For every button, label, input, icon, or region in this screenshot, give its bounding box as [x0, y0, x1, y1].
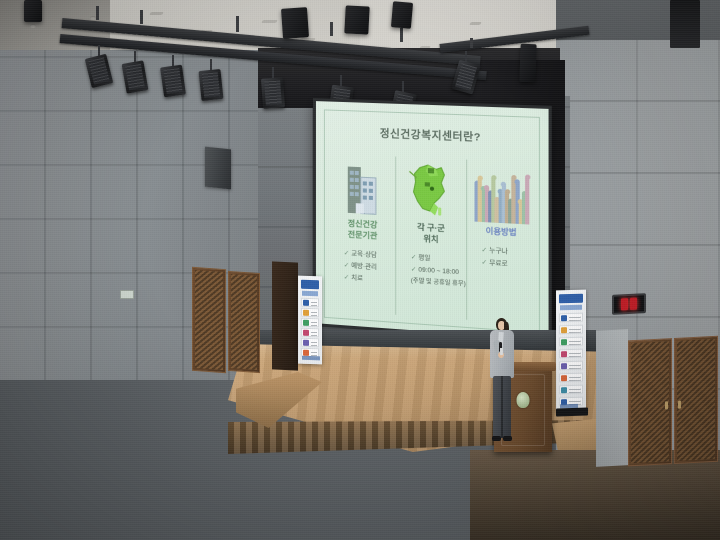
slide-column-1-heading: 정신건강 전문기관: [348, 219, 378, 242]
heading-line-1: 각 구·군: [417, 223, 445, 236]
slide-column-2: 각 구·군 위치 ✓평일 ✓09:00 ~ 18:00 (주말 및 공휴일 휴무…: [396, 157, 466, 320]
check-icon: ✓: [411, 266, 416, 273]
banner-subheader: [302, 291, 318, 297]
check-icon: ✓: [344, 249, 349, 256]
heading-line-2: 전문기관: [348, 230, 378, 243]
truss-drop-rod: [330, 22, 333, 36]
truss-drop-rod: [236, 16, 239, 32]
wall-dark-panel: [670, 0, 700, 48]
check-icon: ✓: [344, 262, 349, 269]
bullet-label: 무료로: [489, 259, 508, 267]
gyeongbuk-map-icon: [397, 157, 466, 224]
check-icon: ✓: [481, 246, 487, 254]
slide-column-2-heading: 각 구·군 위치: [417, 223, 445, 247]
banner-left-rows: [298, 276, 322, 277]
truss-drop-rod: [470, 38, 473, 48]
stage-spotlight: [198, 69, 223, 101]
bullet-note: (주말 및 공휴일 휴무): [411, 276, 466, 291]
stage-spotlight: [160, 65, 186, 98]
stage-spotlight: [261, 77, 285, 108]
person-head: [515, 180, 520, 185]
check-icon: ✓: [411, 253, 416, 260]
person-head: [478, 176, 483, 181]
hanging-speaker: [519, 44, 536, 83]
bullet-label: 평일: [418, 254, 430, 262]
bullet-label: 예방·관리: [351, 262, 377, 271]
truss-drop-rod: [400, 28, 403, 42]
bullet-label: 09:00 ~ 18:00: [418, 266, 459, 276]
heading-line-1: 이용방법: [486, 226, 517, 239]
ceiling-diffuser: [149, 12, 163, 15]
slide-column-1-bullets: ✓교육·상담 ✓예방·관리 ✓치료: [330, 247, 396, 288]
truss-drop-rod: [140, 10, 143, 24]
hanging-speaker: [391, 1, 413, 29]
truss-drop-rod: [96, 6, 99, 20]
bullet-item: ✓무료로: [481, 257, 535, 273]
hanging-speaker: [24, 0, 42, 22]
ceiling-sprinkler: [30, 24, 36, 28]
slide-column-3-bullets: ✓누구나 ✓무료로: [467, 244, 536, 273]
slide-column-1: 정신건강 전문기관 ✓교육·상담 ✓예방·관리 ✓치료: [330, 154, 396, 315]
person-silhouette: [525, 175, 529, 224]
bullet-label: 교육·상담: [351, 250, 377, 259]
slide-column-2-bullets: ✓평일 ✓09:00 ~ 18:00 (주말 및 공휴일 휴무): [397, 251, 466, 292]
bullet-label: 누구나: [489, 247, 508, 255]
bullet-item: ✓치료: [344, 272, 396, 288]
heading-line-2: 위치: [417, 234, 445, 247]
check-icon: ✓: [481, 259, 487, 267]
office-building-icon: [330, 154, 396, 220]
slide-column-3-heading: 이용방법: [486, 226, 517, 239]
hanging-speaker: [281, 7, 309, 39]
audience-seating: [0, 300, 720, 540]
check-icon: ✓: [344, 274, 349, 281]
ceiling-diffuser: [261, 20, 278, 23]
person-head: [525, 174, 530, 179]
person-head: [501, 182, 506, 187]
bullet-label: 치료: [351, 274, 363, 282]
group-of-people-icon: [467, 160, 536, 227]
auditorium-photo: 정신건강복지센터란?: [0, 0, 720, 540]
banner-header: [301, 280, 319, 290]
wall-speaker-left: [205, 147, 231, 190]
banner-right-rows: [556, 290, 586, 291]
person-head: [491, 175, 496, 180]
wall-sign: [120, 290, 134, 299]
slide-columns: 정신건강 전문기관 ✓교육·상담 ✓예방·관리 ✓치료: [330, 154, 536, 325]
people-bars: [473, 166, 530, 225]
hanging-speaker: [344, 5, 369, 34]
